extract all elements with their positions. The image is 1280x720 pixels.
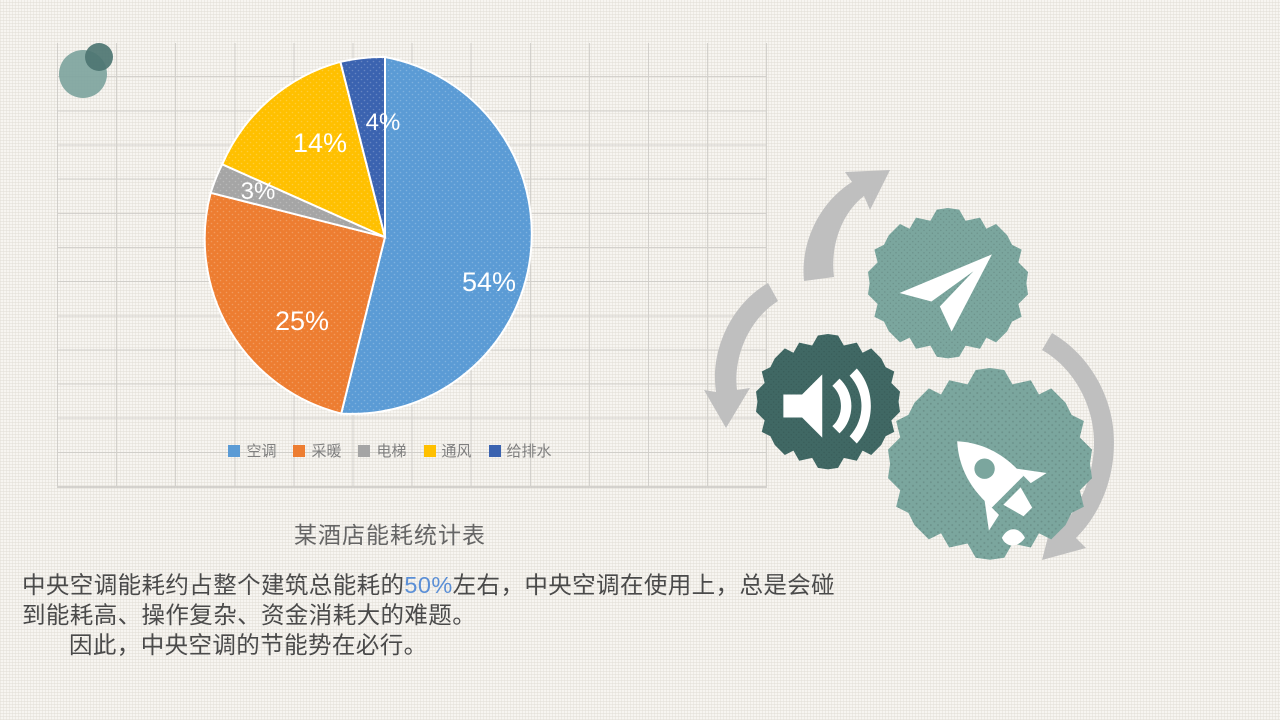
legend-item-kongtiao[interactable]: 空调	[228, 440, 276, 461]
body-line-1-part-a: 中央空调能耗约占整个建筑总能耗的	[22, 572, 404, 598]
legend-swatch-icon	[228, 445, 240, 457]
decorative-circles-logo	[59, 43, 115, 99]
chart-caption: 某酒店能耗统计表	[0, 516, 780, 550]
legend-swatch-icon	[489, 445, 501, 457]
legend-label: 电梯	[376, 440, 406, 461]
legend-item-caihuan[interactable]: 采暖	[293, 440, 341, 461]
body-line-2: 到能耗高、操作复杂、资金消耗大的难题。	[22, 600, 1022, 630]
legend-label: 空调	[246, 440, 276, 461]
legend-label: 给排水	[507, 440, 552, 461]
body-paragraph: 中央空调能耗约占整个建筑总能耗的50%左右，中央空调在使用上，总是会碰 到能耗高…	[22, 570, 1022, 660]
slide-canvas: 54% 25% 3% 14% 4% 空调 采暖 电梯 通风 给排水 某酒店	[0, 0, 1280, 720]
chart-legend: 空调 采暖 电梯 通风 给排水	[0, 440, 780, 461]
legend-label: 采暖	[311, 440, 341, 461]
gear-megaphone	[756, 334, 900, 469]
body-highlight-50: 50%	[404, 572, 452, 598]
logo-small-circle	[85, 43, 113, 71]
gears-illustration	[690, 170, 1120, 590]
legend-item-dianti[interactable]: 电梯	[358, 440, 406, 461]
body-line-1-part-b: 左右，中央空调在使用上，总是会碰	[453, 572, 835, 598]
body-line-3-text: 因此，中央空调的节能势在必行。	[69, 632, 428, 658]
spreadsheet-grid-background	[57, 43, 767, 488]
legend-swatch-icon	[424, 445, 436, 457]
legend-swatch-icon	[358, 445, 370, 457]
body-line-3: 因此，中央空调的节能势在必行。	[22, 630, 1022, 660]
legend-label: 通风	[442, 440, 472, 461]
legend-item-jipaishui[interactable]: 给排水	[489, 440, 552, 461]
legend-swatch-icon	[293, 445, 305, 457]
legend-item-tongfeng[interactable]: 通风	[424, 440, 472, 461]
body-line-1: 中央空调能耗约占整个建筑总能耗的50%左右，中央空调在使用上，总是会碰	[22, 570, 1022, 600]
gear-paper-plane	[868, 208, 1028, 358]
